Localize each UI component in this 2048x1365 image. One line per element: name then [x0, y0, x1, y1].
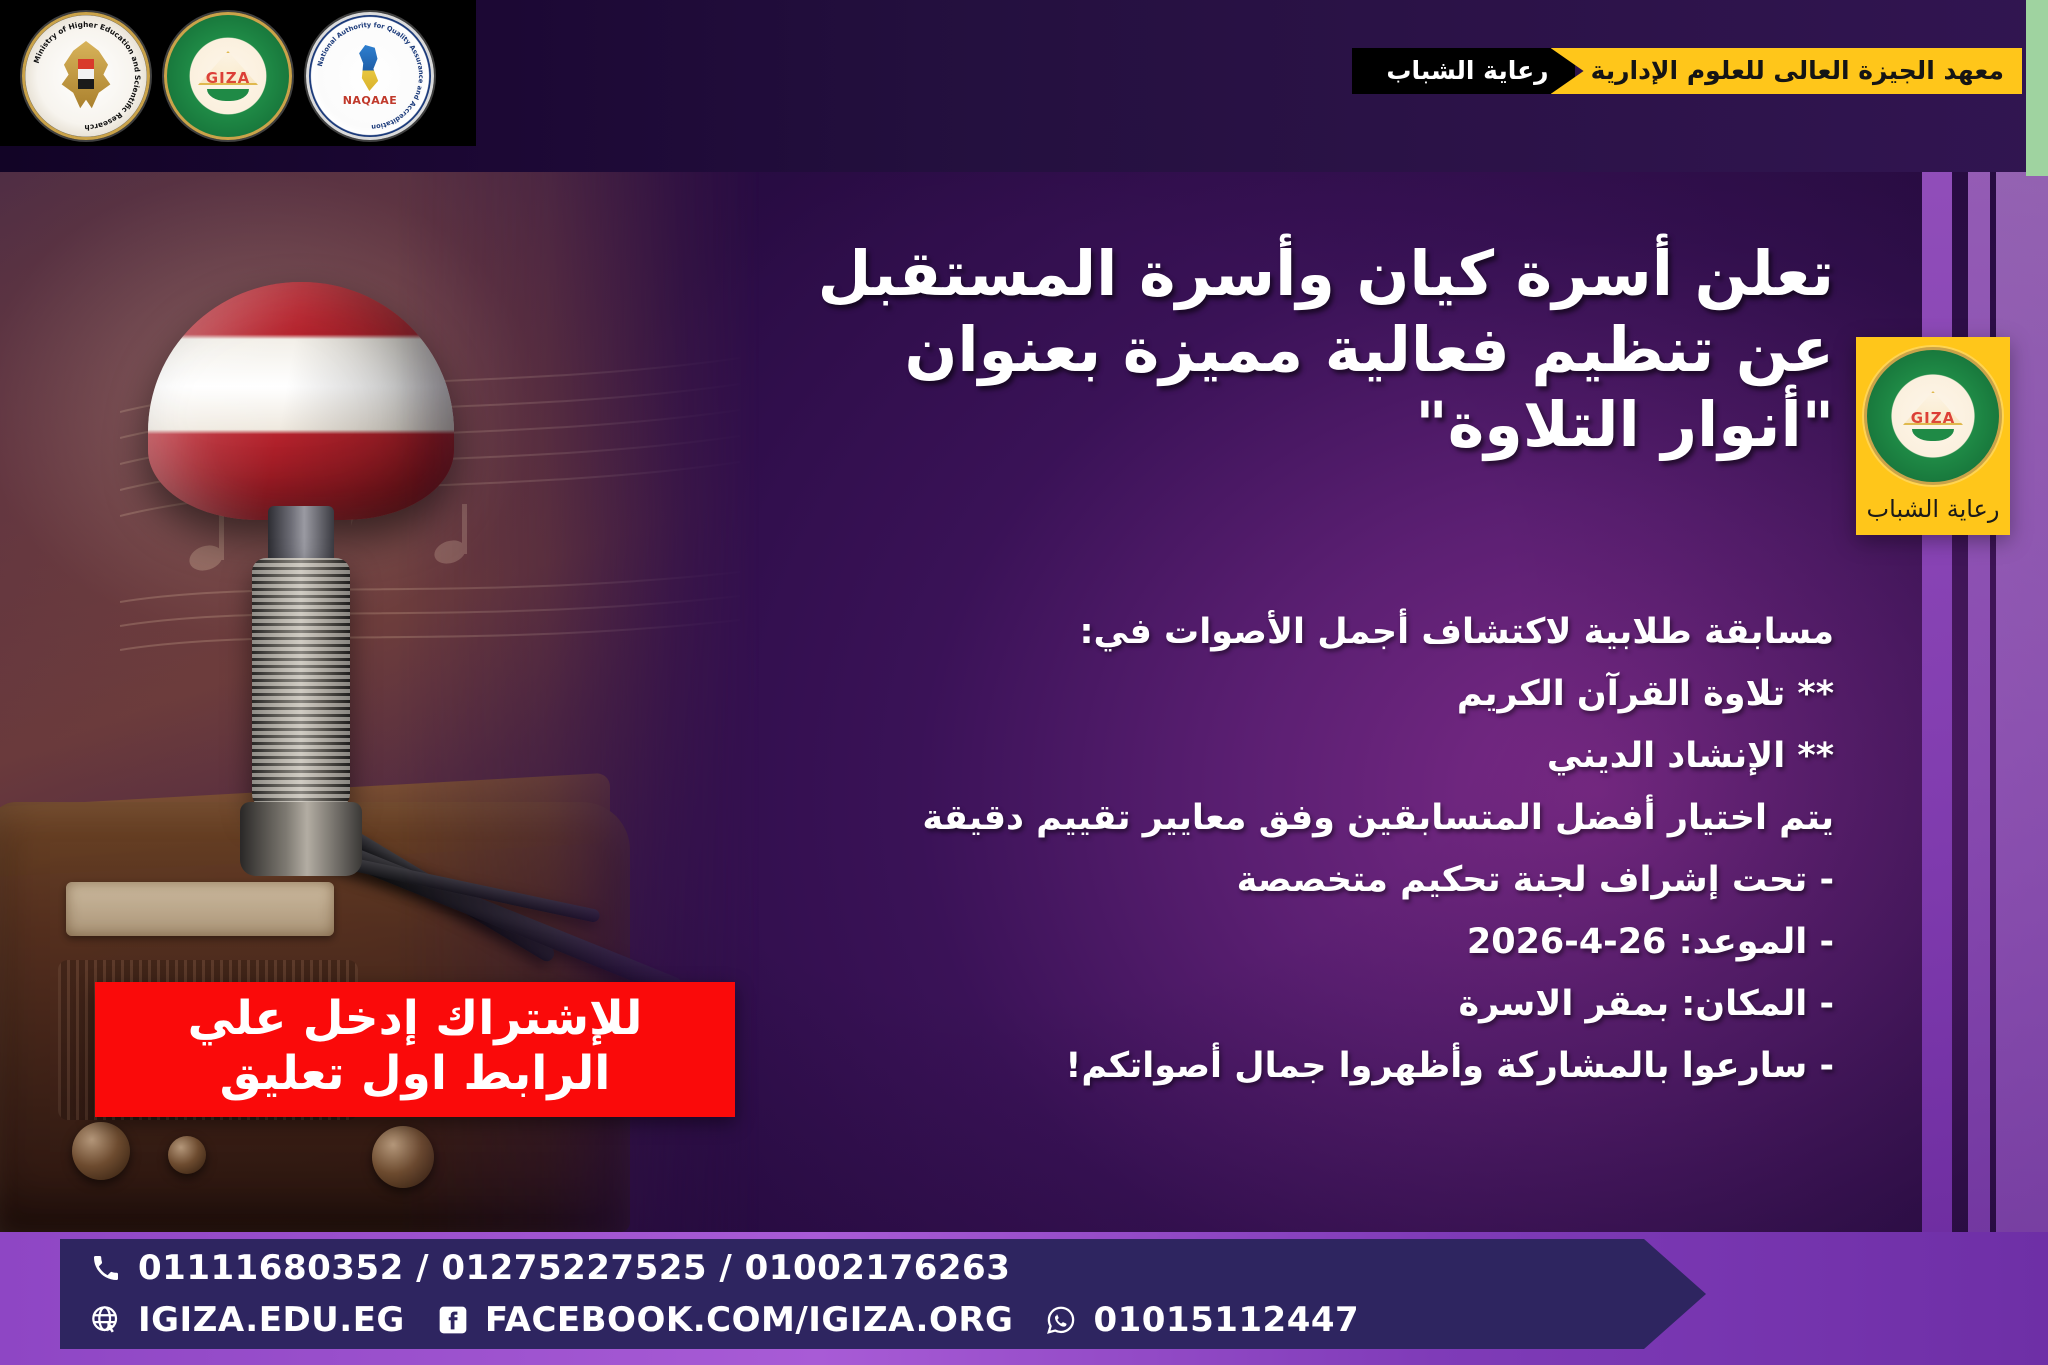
vintage-microphone — [120, 282, 540, 1002]
subscribe-cta-box[interactable]: للإشتراك إدخل علي الرابط اول تعليق — [95, 982, 735, 1117]
body-line-place: - المكان: بمقر الاسرة — [674, 987, 1834, 1022]
pyramid-icon — [198, 51, 258, 85]
body-line-criteria: يتم اختيار أفضل المتسابقين وفق معايير تق… — [674, 801, 1834, 836]
ministry-higher-education-seal: Ministry of Higher Education and Scienti… — [22, 12, 150, 140]
headline-line-2: عن تنظيم فعالية مميزة بعنوان — [684, 312, 1834, 388]
radio-knob-small — [168, 1136, 206, 1174]
decor-stripe-b — [1968, 0, 1990, 1232]
body-line-date: - الموعد: 26-4-2026 — [674, 925, 1834, 960]
decor-stripe-c — [1996, 0, 2048, 1232]
body-line-quran: ** تلاوة القرآن الكريم — [674, 677, 1834, 712]
contact-footer: 01111680352 / 01275227525 / 01002176263 … — [60, 1239, 1706, 1349]
institute-banner: معهد الجيزة العالى للعلوم الإدارية رعاية… — [1352, 48, 2022, 94]
giza-badge-inner: GIZA — [1901, 384, 1965, 448]
footer-whatsapp[interactable]: 01015112447 — [1093, 1300, 1359, 1340]
youth-care-side-badge: GIZA رعاية الشباب — [1856, 337, 2010, 535]
mic-windscreen-shading — [148, 282, 454, 520]
pyramid-icon — [1903, 391, 1963, 425]
poster-headline: تعلن أسرة كيان وأسرة المستقبل عن تنظيم ف… — [684, 236, 1834, 463]
giza-logo-inner: GIZA — [196, 44, 260, 108]
open-book-icon — [1912, 429, 1954, 441]
footer-website[interactable]: IGIZA.EDU.EG — [138, 1300, 405, 1340]
side-badge-label: رعاية الشباب — [1867, 495, 2000, 523]
footer-phone-numbers: 01111680352 / 01275227525 / 01002176263 — [138, 1248, 1010, 1288]
mic-mesh-body — [252, 558, 350, 808]
footer-facebook[interactable]: FACEBOOK.COM/IGIZA.ORG — [485, 1300, 1014, 1340]
decor-stripe-a — [1922, 0, 1952, 1232]
promotional-poster: Ministry of Higher Education and Scienti… — [0, 0, 2048, 1365]
naqaae-wordmark: NAQAAE — [343, 94, 398, 107]
facebook-icon — [435, 1302, 471, 1338]
accreditation-logos: Ministry of Higher Education and Scienti… — [22, 12, 434, 140]
body-line-jury: - تحت إشراف لجنة تحكيم متخصصة — [674, 863, 1834, 898]
poster-body-text: مسابقة طلابية لاكتشاف أجمل الأصوات في: *… — [674, 615, 1834, 1111]
headline-line-1: تعلن أسرة كيان وأسرة المستقبل — [684, 236, 1834, 312]
cta-line-1: للإشتراك إدخل علي — [115, 992, 715, 1047]
phone-icon — [88, 1250, 124, 1286]
footer-links-row: IGIZA.EDU.EG FACEBOOK.COM/IGIZA.ORG 0101… — [88, 1300, 1706, 1340]
radio-knob-left — [72, 1122, 130, 1180]
giza-badge-seal: GIZA — [1864, 347, 2002, 485]
institute-name-label: معهد الجيزة العالى للعلوم الإدارية — [1551, 48, 2022, 94]
green-corner-tab — [2026, 0, 2048, 176]
body-line-call: - سارعوا بالمشاركة وأظهروا جمال أصواتكم! — [674, 1049, 1834, 1084]
headline-line-3: "أنوار التلاوة" — [684, 387, 1834, 463]
egypt-map-icon — [353, 45, 387, 91]
body-line-intro: مسابقة طلابية لاكتشاف أجمل الأصوات في: — [674, 615, 1834, 650]
giza-institute-seal: GIZA — [164, 12, 292, 140]
footer-phone-row: 01111680352 / 01275227525 / 01002176263 — [88, 1248, 1706, 1288]
mic-base — [240, 802, 362, 876]
whatsapp-icon — [1043, 1302, 1079, 1338]
egypt-eagle-icon — [57, 41, 115, 111]
cta-line-2: الرابط اول تعليق — [115, 1047, 715, 1102]
globe-icon — [88, 1302, 124, 1338]
radio-knob-right — [372, 1126, 434, 1188]
naqaae-seal: NAQAAE National Authority for Quality As… — [306, 12, 434, 140]
youth-care-label: رعاية الشباب — [1352, 48, 1574, 94]
open-book-icon — [207, 89, 249, 101]
body-line-inshad: ** الإنشاد الديني — [674, 739, 1834, 774]
